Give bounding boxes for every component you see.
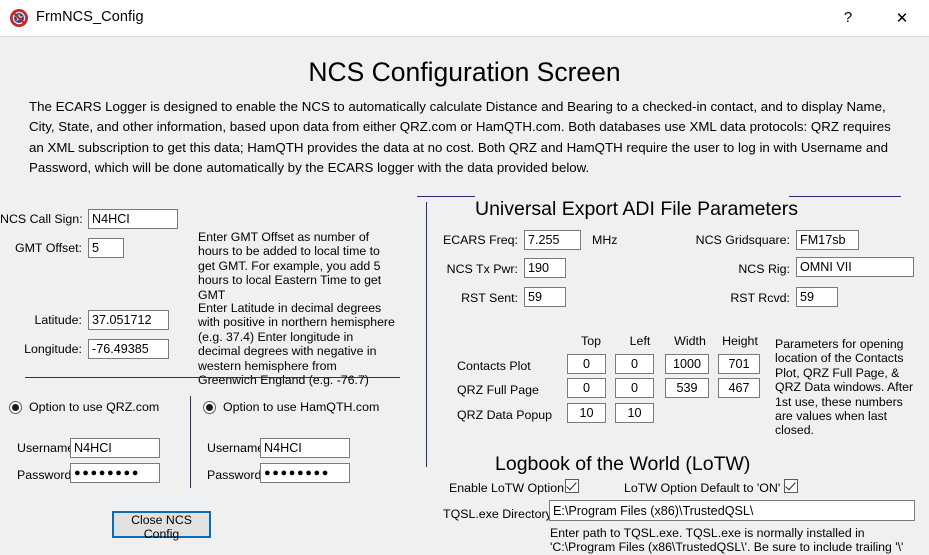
ncs-config-window: FrmNCS_Config ? ✕ NCS Configuration Scre… xyxy=(0,0,929,555)
ncs-call-sign-label: NCS Call Sign: xyxy=(0,212,82,226)
help-button[interactable]: ? xyxy=(825,0,871,35)
lotw-default-on-checkbox[interactable] xyxy=(784,479,798,493)
radio-hamqth-label: Option to use HamQTH.com xyxy=(223,400,379,414)
ecars-freq-unit-label: MHz xyxy=(592,233,617,247)
lat-lon-help-text: Enter Latitude in decimal degrees with p… xyxy=(198,301,398,387)
qrz-data-popup-left-input[interactable] xyxy=(615,403,654,423)
rst-rcvd-input[interactable] xyxy=(796,287,838,307)
close-ncs-config-button[interactable]: Close NCS Config xyxy=(112,511,211,538)
hamqth-password-label: Password: xyxy=(207,468,265,482)
col-header-height: Height xyxy=(718,334,762,348)
row-label-qrz-data-popup: QRZ Data Popup xyxy=(457,408,552,422)
col-header-width: Width xyxy=(668,334,712,348)
adi-title-rule-right xyxy=(789,196,901,197)
qrz-username-input[interactable] xyxy=(70,438,160,458)
enable-lotw-checkbox[interactable] xyxy=(565,479,579,493)
radio-qrz-indicator[interactable] xyxy=(9,401,22,414)
lotw-default-on-label: LoTW Option Default to 'ON' xyxy=(624,481,780,495)
ncs-rig-label: NCS Rig: xyxy=(672,262,790,276)
window-params-help-text: Parameters for opening location of the C… xyxy=(775,337,915,438)
gmt-offset-label: GMT Offset: xyxy=(0,241,82,255)
contacts-plot-left-input[interactable] xyxy=(615,354,654,374)
ncs-tx-pwr-input[interactable] xyxy=(524,258,566,278)
row-label-qrz-full-page: QRZ Full Page xyxy=(457,383,539,397)
close-window-button[interactable]: ✕ xyxy=(879,0,925,35)
radio-option-qrz[interactable]: Option to use QRZ.com xyxy=(9,400,159,414)
adi-title-rule-left xyxy=(417,196,475,197)
qrz-full-page-top-input[interactable] xyxy=(567,378,606,398)
latitude-input[interactable] xyxy=(88,310,169,330)
col-header-left: Left xyxy=(622,334,658,348)
page-title: NCS Configuration Screen xyxy=(0,57,929,88)
latitude-label: Latitude: xyxy=(0,313,82,327)
credentials-divider xyxy=(190,396,191,488)
col-header-top: Top xyxy=(573,334,609,348)
radio-option-hamqth[interactable]: Option to use HamQTH.com xyxy=(203,400,379,414)
lotw-section-title: Logbook of the World (LoTW) xyxy=(495,453,750,476)
rst-sent-label: RST Sent: xyxy=(430,291,518,305)
qrz-full-page-width-input[interactable] xyxy=(665,378,709,398)
ecars-freq-input[interactable] xyxy=(524,230,581,250)
rst-rcvd-label: RST Rcvd: xyxy=(672,291,790,305)
qrz-full-page-left-input[interactable] xyxy=(615,378,654,398)
row-label-contacts-plot: Contacts Plot xyxy=(457,359,531,373)
hamqth-password-input[interactable] xyxy=(260,463,350,483)
window-title: FrmNCS_Config xyxy=(36,9,144,25)
enable-lotw-label: Enable LoTW Option xyxy=(449,481,564,495)
gmt-offset-input[interactable] xyxy=(88,238,124,258)
tqsl-directory-label: TQSL.exe Directory xyxy=(443,507,552,521)
longitude-label: Longitude: xyxy=(0,342,82,356)
left-panel-divider xyxy=(25,377,400,378)
contacts-plot-top-input[interactable] xyxy=(567,354,606,374)
contacts-plot-width-input[interactable] xyxy=(665,354,709,374)
qrz-password-label: Password: xyxy=(17,468,75,482)
window-titlebar: FrmNCS_Config ? ✕ xyxy=(0,0,929,37)
hamqth-username-label: Username: xyxy=(207,441,268,455)
tqsl-help-text: Enter path to TQSL.exe. TQSL.exe is norm… xyxy=(550,526,925,555)
qrz-full-page-height-input[interactable] xyxy=(718,378,760,398)
qrz-data-popup-top-input[interactable] xyxy=(567,403,606,423)
ncs-tx-pwr-label: NCS Tx Pwr: xyxy=(430,262,518,276)
tqsl-directory-input[interactable] xyxy=(549,500,915,521)
qrz-password-input[interactable] xyxy=(70,463,160,483)
right-panel-vertical-rule xyxy=(426,202,427,467)
gmt-offset-help-text: Enter GMT Offset as number of hours to b… xyxy=(198,230,398,302)
ecars-logo-icon xyxy=(9,8,29,28)
longitude-input[interactable] xyxy=(88,339,169,359)
rst-sent-input[interactable] xyxy=(524,287,566,307)
ncs-gridsquare-label: NCS Gridsquare: xyxy=(672,233,790,247)
ncs-rig-input[interactable] xyxy=(796,257,914,277)
radio-qrz-label: Option to use QRZ.com xyxy=(29,400,159,414)
qrz-username-label: Username: xyxy=(17,441,78,455)
adi-section-title: Universal Export ADI File Parameters xyxy=(475,198,798,221)
ncs-call-sign-input[interactable] xyxy=(88,209,178,229)
ecars-freq-label: ECARS Freq: xyxy=(430,233,518,247)
radio-hamqth-indicator[interactable] xyxy=(203,401,216,414)
contacts-plot-height-input[interactable] xyxy=(718,354,760,374)
intro-description: The ECARS Logger is designed to enable t… xyxy=(29,97,904,178)
ncs-gridsquare-input[interactable] xyxy=(796,230,859,250)
hamqth-username-input[interactable] xyxy=(260,438,350,458)
